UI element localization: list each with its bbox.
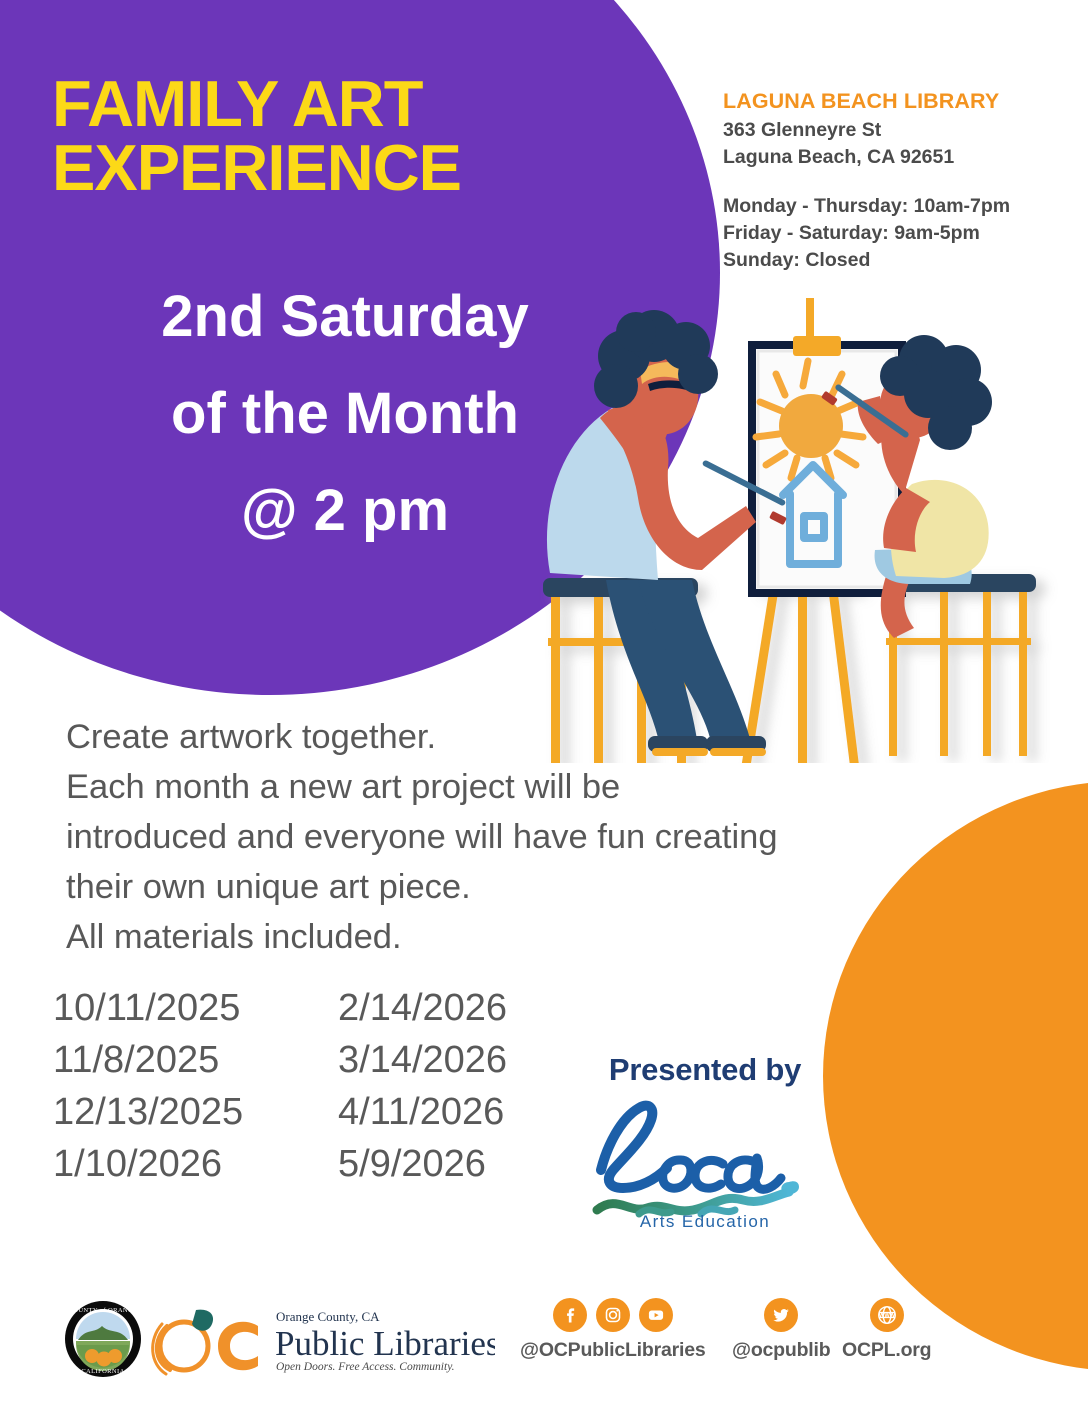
footer: COUNTY of ORANGE CALIFORNIA Orange Count… [0,1292,1088,1402]
headline-line-1: FAMILY ART [52,72,672,136]
loca-tagline: Arts Education [639,1212,769,1229]
date-item: 5/9/2026 [338,1138,553,1190]
date-item: 11/8/2025 [53,1034,268,1086]
hours-line-1: Monday - Thursday: 10am-7pm [723,193,1063,220]
library-address: 363 Glenneyre St Laguna Beach, CA 92651 [723,117,1063,171]
svg-text:WWW: WWW [879,1313,896,1319]
description-line-4: their own unique art piece. [66,862,906,912]
youtube-icon[interactable] [639,1298,673,1332]
description-line-2: Each month a new art project will be [66,762,906,812]
twitter-icon[interactable] [764,1298,798,1332]
library-name: LAGUNA BEACH LIBRARY [723,88,1063,114]
date-item: 3/14/2026 [338,1034,553,1086]
social-group-ocpublib: @ocpublib [732,1298,830,1362]
address-line-2: Laguna Beach, CA 92651 [723,144,1063,171]
social-handle[interactable]: @ocpublib [732,1339,830,1362]
oc-logo-tagline: Open Doors. Free Access. Community. [276,1361,455,1373]
subhead-line-1: 2nd Saturday [40,268,650,365]
dates-column-1: 10/11/2025 11/8/2025 12/13/2025 1/10/202… [53,982,268,1190]
page-title: FAMILY ART EXPERIENCE [52,72,672,200]
subhead-line-3: @ 2 pm [40,462,650,559]
date-item: 1/10/2026 [53,1138,268,1190]
headline-line-2: EXPERIENCE [52,136,672,200]
dates-column-2: 2/14/2026 3/14/2026 4/11/2026 5/9/2026 [338,982,553,1190]
website-www-icon[interactable]: WWW [870,1298,904,1332]
address-line-1: 363 Glenneyre St [723,117,1063,144]
event-dates-list: 10/11/2025 11/8/2025 12/13/2025 1/10/202… [53,982,553,1190]
social-media-block: @OCPublicLibraries @ocpublib [520,1298,940,1394]
description-line-3: introduced and everyone will have fun cr… [66,812,906,862]
date-item: 4/11/2026 [338,1086,553,1138]
facebook-icon[interactable] [553,1298,587,1332]
presented-by-label: Presented by [560,1052,850,1088]
county-of-orange-seal-icon: COUNTY of ORANGE CALIFORNIA [64,1300,142,1378]
subhead-line-2: of the Month [40,365,650,462]
social-group-website: WWW OCPL.org [842,1298,931,1362]
date-item: 2/14/2026 [338,982,553,1034]
flyer-canvas: FAMILY ART EXPERIENCE 2nd Saturday of th… [0,0,1088,1408]
library-hours: Monday - Thursday: 10am-7pm Friday - Sat… [723,193,1063,274]
event-schedule-subhead: 2nd Saturday of the Month @ 2 pm [40,268,650,559]
social-group-ocpubliclibraries: @OCPublicLibraries [520,1298,706,1362]
social-handle[interactable]: OCPL.org [842,1339,931,1362]
oc-logo-eyebrow: Orange County, CA [276,1309,380,1324]
oc-public-libraries-logo: Orange County, CA Public Libraries Open … [150,1302,495,1378]
description-text: Create artwork together. Each month a ne… [66,712,906,962]
date-item: 10/11/2025 [53,982,268,1034]
presented-by-block: Presented by [560,1052,850,1229]
oc-logo-name: Public Libraries [275,1324,495,1363]
hours-line-3: Sunday: Closed [723,247,1063,274]
hours-line-2: Friday - Saturday: 9am-5pm [723,220,1063,247]
description-line-5: All materials included. [66,912,906,962]
instagram-icon[interactable] [596,1298,630,1332]
svg-text:COUNTY of ORANGE: COUNTY of ORANGE [69,1307,138,1314]
loca-arts-education-logo: Arts Education [560,1094,850,1229]
description-line-1: Create artwork together. [66,712,906,762]
svg-text:CALIFORNIA: CALIFORNIA [81,1368,124,1375]
social-handle[interactable]: @OCPublicLibraries [520,1339,706,1362]
date-item: 12/13/2025 [53,1086,268,1138]
library-info-block: LAGUNA BEACH LIBRARY 363 Glenneyre St La… [723,88,1063,274]
